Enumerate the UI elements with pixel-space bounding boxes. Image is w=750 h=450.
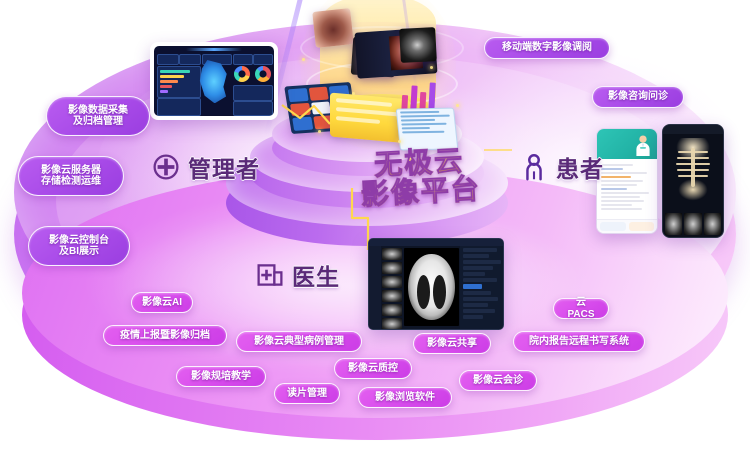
sparkle bbox=[398, 140, 401, 143]
medical-record-plus-icon bbox=[256, 261, 284, 289]
pill-patient-1[interactable]: 影像咨询问诊 bbox=[592, 86, 684, 108]
platform-title: 无极云 影像平台 bbox=[329, 143, 512, 211]
pill-doctor-0[interactable]: 影像云AI bbox=[131, 292, 193, 313]
role-administrator[interactable]: 管理者 bbox=[152, 150, 260, 184]
role-doctor-label: 医生 bbox=[292, 258, 340, 292]
patient-report-phone[interactable] bbox=[596, 128, 658, 234]
person-icon bbox=[520, 153, 548, 181]
pill-doctor-3[interactable]: 影像规培教学 bbox=[176, 366, 266, 387]
pill-admin-2[interactable]: 影像云控制台 及BI展示 bbox=[28, 226, 130, 266]
report-document-panel bbox=[396, 108, 459, 151]
sparkle bbox=[302, 58, 305, 61]
pill-patient-0[interactable]: 移动端数字影像调阅 bbox=[484, 37, 610, 59]
sparkle bbox=[456, 104, 459, 107]
pill-doctor-6[interactable]: 影像云共享 bbox=[413, 333, 491, 354]
pill-doctor-5[interactable]: 影像浏览软件 bbox=[358, 387, 452, 408]
role-patient[interactable]: 患者 bbox=[520, 150, 604, 184]
pill-doctor-9[interactable]: 云PACS bbox=[553, 298, 609, 319]
role-doctor[interactable]: 医生 bbox=[256, 258, 340, 292]
circle-plus-icon bbox=[152, 153, 180, 181]
pill-doctor-7[interactable]: 影像云质控 bbox=[334, 358, 412, 379]
ct-viewer-screen[interactable] bbox=[368, 238, 504, 330]
pill-admin-0[interactable]: 影像数据采集 及归档管理 bbox=[46, 96, 150, 136]
pill-doctor-8[interactable]: 影像云会诊 bbox=[459, 370, 537, 391]
pill-admin-1[interactable]: 影像云服务器 存储检测运维 bbox=[18, 156, 124, 196]
pill-doctor-4[interactable]: 读片管理 bbox=[274, 383, 340, 404]
pill-doctor-10[interactable]: 院内报告远程书写系统 bbox=[513, 331, 645, 352]
skeleton-3d-phone[interactable] bbox=[662, 124, 724, 238]
sparkle bbox=[318, 130, 321, 133]
skeleton-render bbox=[670, 138, 716, 205]
sparkle bbox=[430, 66, 433, 69]
admin-dashboard-screen[interactable] bbox=[150, 42, 278, 120]
doctor-illustration-icon bbox=[634, 134, 652, 156]
role-patient-label: 患者 bbox=[556, 150, 604, 184]
pill-doctor-2[interactable]: 影像云典型病例管理 bbox=[236, 331, 362, 352]
pill-doctor-1[interactable]: 疫情上报暨影像归档 bbox=[103, 325, 227, 346]
infographic-canvas: 无极云 影像平台 管理者 患者 医生 影像数据采集 及归档管理 影像云服务器 存… bbox=[0, 0, 750, 450]
role-administrator-label: 管理者 bbox=[188, 150, 260, 184]
sparkle bbox=[352, 92, 355, 95]
ultrasound-thumbnail-2 bbox=[399, 27, 437, 63]
endoscopy-thumbnail bbox=[312, 8, 354, 48]
